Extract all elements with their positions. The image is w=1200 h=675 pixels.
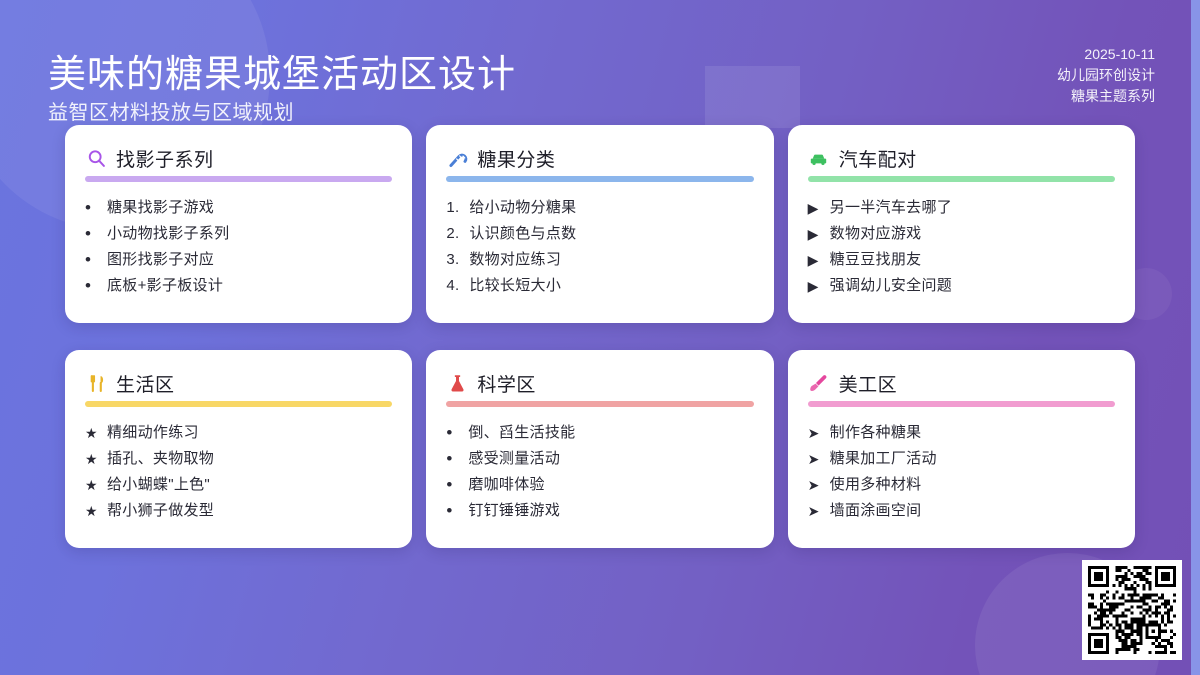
list-item-label: 墙面涂画空间 bbox=[830, 498, 1115, 524]
list-item[interactable]: ➤制作各种糖果 bbox=[808, 420, 1115, 446]
list-item-label: 倒、舀生活技能 bbox=[468, 420, 753, 446]
card-header: 汽车配对 bbox=[808, 143, 1115, 173]
list-item-marker: ★ bbox=[85, 446, 107, 472]
meta-date: 2025-10-11 bbox=[1057, 44, 1155, 65]
list-item[interactable]: ▶强调幼儿安全问题 bbox=[808, 273, 1115, 299]
card-item-list: ▶另一半汽车去哪了▶数物对应游戏▶糖豆豆找朋友▶强调幼儿安全问题 bbox=[808, 195, 1115, 299]
card-header: 生活区 bbox=[85, 368, 392, 398]
list-item-marker: ➤ bbox=[808, 498, 830, 524]
card-title: 糖果分类 bbox=[477, 145, 555, 172]
list-item[interactable]: ➤使用多种材料 bbox=[808, 472, 1115, 498]
list-item-label: 图形找影子对应 bbox=[107, 247, 392, 273]
qr-code[interactable] bbox=[1082, 560, 1182, 660]
card-accent-rule bbox=[85, 401, 392, 407]
list-item-marker: 1. bbox=[446, 195, 469, 221]
cards-row-1: 找影子系列•糖果找影子游戏•小动物找影子系列•图形找影子对应•底板+影子板设计 … bbox=[65, 125, 1135, 323]
list-item-marker: ➤ bbox=[808, 446, 830, 472]
list-item[interactable]: ▶另一半汽车去哪了 bbox=[808, 195, 1115, 221]
header-meta: 2025-10-11 幼儿园环创设计 糖果主题系列 bbox=[1057, 44, 1155, 107]
card-header: 美工区 bbox=[808, 368, 1115, 398]
list-item-marker: • bbox=[446, 420, 468, 446]
list-item-label: 数物对应练习 bbox=[469, 247, 753, 273]
list-item-label: 小动物找影子系列 bbox=[107, 221, 392, 247]
card-title: 找影子系列 bbox=[116, 145, 214, 172]
list-item-label: 数物对应游戏 bbox=[830, 221, 1115, 247]
list-item-marker: 2. bbox=[446, 221, 469, 247]
list-item[interactable]: •小动物找影子系列 bbox=[85, 221, 392, 247]
list-item-marker: ➤ bbox=[808, 472, 830, 498]
card-title: 科学区 bbox=[477, 370, 536, 397]
card-art-area[interactable]: 美工区➤制作各种糖果➤糖果加工厂活动➤使用多种材料➤墙面涂画空间 bbox=[788, 350, 1135, 548]
card-item-list: •糖果找影子游戏•小动物找影子系列•图形找影子对应•底板+影子板设计 bbox=[85, 195, 392, 299]
list-item[interactable]: •钉钉锤锤游戏 bbox=[446, 498, 753, 524]
list-item-label: 使用多种材料 bbox=[830, 472, 1115, 498]
card-item-list: 1.给小动物分糖果2.认识颜色与点数3.数物对应练习4.比较长短大小 bbox=[446, 195, 753, 299]
list-item[interactable]: •糖果找影子游戏 bbox=[85, 195, 392, 221]
list-item-label: 给小动物分糖果 bbox=[469, 195, 753, 221]
list-item-marker: ▶ bbox=[808, 273, 830, 299]
list-item[interactable]: ▶糖豆豆找朋友 bbox=[808, 247, 1115, 273]
list-item-label: 糖豆豆找朋友 bbox=[830, 247, 1115, 273]
page-title: 美味的糖果城堡活动区设计 bbox=[48, 43, 516, 98]
card-header: 糖果分类 bbox=[446, 143, 753, 173]
slide-root: 美味的糖果城堡活动区设计 益智区材料投放与区域规划 2025-10-11 幼儿园… bbox=[0, 0, 1200, 675]
list-item[interactable]: •底板+影子板设计 bbox=[85, 273, 392, 299]
list-item-marker: • bbox=[85, 247, 107, 273]
list-item[interactable]: ★帮小狮子做发型 bbox=[85, 498, 392, 524]
list-item-label: 另一半汽车去哪了 bbox=[830, 195, 1115, 221]
magnifier-icon bbox=[85, 147, 107, 169]
list-item[interactable]: ★插孔、夹物取物 bbox=[85, 446, 392, 472]
card-science-area[interactable]: 科学区•倒、舀生活技能•感受测量活动•磨咖啡体验•钉钉锤锤游戏 bbox=[426, 350, 773, 548]
candy-cane-icon bbox=[446, 147, 468, 169]
card-accent-rule bbox=[446, 176, 753, 182]
cards-grid: 找影子系列•糖果找影子游戏•小动物找影子系列•图形找影子对应•底板+影子板设计 … bbox=[65, 125, 1135, 548]
list-item-label: 帮小狮子做发型 bbox=[107, 498, 392, 524]
list-item-marker: • bbox=[446, 472, 468, 498]
meta-org: 幼儿园环创设计 bbox=[1057, 65, 1155, 86]
list-item-label: 给小蝴蝶"上色" bbox=[107, 472, 392, 498]
card-car-matching[interactable]: 汽车配对▶另一半汽车去哪了▶数物对应游戏▶糖豆豆找朋友▶强调幼儿安全问题 bbox=[788, 125, 1135, 323]
list-item-marker: ★ bbox=[85, 498, 107, 524]
card-find-shadow[interactable]: 找影子系列•糖果找影子游戏•小动物找影子系列•图形找影子对应•底板+影子板设计 bbox=[65, 125, 412, 323]
list-item-label: 插孔、夹物取物 bbox=[107, 446, 392, 472]
list-item-marker: ★ bbox=[85, 472, 107, 498]
list-item[interactable]: ➤糖果加工厂活动 bbox=[808, 446, 1115, 472]
cards-row-2: 生活区★精细动作练习★插孔、夹物取物★给小蝴蝶"上色"★帮小狮子做发型 科学区•… bbox=[65, 350, 1135, 548]
card-item-list: •倒、舀生活技能•感受测量活动•磨咖啡体验•钉钉锤锤游戏 bbox=[446, 420, 753, 524]
list-item[interactable]: ▶数物对应游戏 bbox=[808, 221, 1115, 247]
list-item[interactable]: 4.比较长短大小 bbox=[446, 273, 753, 299]
card-accent-rule bbox=[808, 176, 1115, 182]
list-item-marker: • bbox=[446, 446, 468, 472]
list-item-marker: • bbox=[85, 195, 107, 221]
list-item-label: 糖果找影子游戏 bbox=[107, 195, 392, 221]
list-item-label: 感受测量活动 bbox=[468, 446, 753, 472]
page-subtitle: 益智区材料投放与区域规划 bbox=[48, 96, 294, 125]
list-item-marker: • bbox=[85, 221, 107, 247]
list-item-marker: 4. bbox=[446, 273, 469, 299]
card-accent-rule bbox=[808, 401, 1115, 407]
card-accent-rule bbox=[446, 401, 753, 407]
list-item[interactable]: ★给小蝴蝶"上色" bbox=[85, 472, 392, 498]
list-item-label: 磨咖啡体验 bbox=[468, 472, 753, 498]
card-accent-rule bbox=[85, 176, 392, 182]
list-item[interactable]: ➤墙面涂画空间 bbox=[808, 498, 1115, 524]
card-title: 生活区 bbox=[116, 370, 175, 397]
list-item-label: 糖果加工厂活动 bbox=[830, 446, 1115, 472]
card-item-list: ★精细动作练习★插孔、夹物取物★给小蝴蝶"上色"★帮小狮子做发型 bbox=[85, 420, 392, 524]
list-item-label: 制作各种糖果 bbox=[830, 420, 1115, 446]
list-item[interactable]: ★精细动作练习 bbox=[85, 420, 392, 446]
card-title: 汽车配对 bbox=[839, 145, 917, 172]
list-item-label: 底板+影子板设计 bbox=[107, 273, 392, 299]
list-item-label: 钉钉锤锤游戏 bbox=[468, 498, 753, 524]
card-life-area[interactable]: 生活区★精细动作练习★插孔、夹物取物★给小蝴蝶"上色"★帮小狮子做发型 bbox=[65, 350, 412, 548]
list-item-marker: ➤ bbox=[808, 420, 830, 446]
flask-icon bbox=[446, 372, 468, 394]
car-icon bbox=[808, 147, 830, 169]
card-title: 美工区 bbox=[839, 370, 898, 397]
card-candy-classify[interactable]: 糖果分类1.给小动物分糖果2.认识颜色与点数3.数物对应练习4.比较长短大小 bbox=[426, 125, 773, 323]
card-header: 找影子系列 bbox=[85, 143, 392, 173]
list-item-label: 比较长短大小 bbox=[469, 273, 753, 299]
fork-knife-icon bbox=[85, 372, 107, 394]
list-item-label: 强调幼儿安全问题 bbox=[830, 273, 1115, 299]
list-item-marker: • bbox=[85, 273, 107, 299]
list-item[interactable]: 1.给小动物分糖果 bbox=[446, 195, 753, 221]
list-item-marker: 3. bbox=[446, 247, 469, 273]
meta-series: 糖果主题系列 bbox=[1057, 86, 1155, 107]
paintbrush-icon bbox=[808, 372, 830, 394]
list-item-marker: ▶ bbox=[808, 195, 830, 221]
card-item-list: ➤制作各种糖果➤糖果加工厂活动➤使用多种材料➤墙面涂画空间 bbox=[808, 420, 1115, 524]
list-item-marker: ▶ bbox=[808, 247, 830, 273]
list-item[interactable]: •倒、舀生活技能 bbox=[446, 420, 753, 446]
list-item[interactable]: •磨咖啡体验 bbox=[446, 472, 753, 498]
list-item-label: 认识颜色与点数 bbox=[469, 221, 753, 247]
list-item[interactable]: •感受测量活动 bbox=[446, 446, 753, 472]
card-header: 科学区 bbox=[446, 368, 753, 398]
slide-header: 美味的糖果城堡活动区设计 益智区材料投放与区域规划 2025-10-11 幼儿园… bbox=[0, 0, 1200, 128]
list-item-marker: ▶ bbox=[808, 221, 830, 247]
list-item-label: 精细动作练习 bbox=[107, 420, 392, 446]
qr-code-image bbox=[1088, 566, 1176, 654]
list-item[interactable]: 2.认识颜色与点数 bbox=[446, 221, 753, 247]
list-item[interactable]: 3.数物对应练习 bbox=[446, 247, 753, 273]
list-item-marker: ★ bbox=[85, 420, 107, 446]
list-item[interactable]: •图形找影子对应 bbox=[85, 247, 392, 273]
list-item-marker: • bbox=[446, 498, 468, 524]
